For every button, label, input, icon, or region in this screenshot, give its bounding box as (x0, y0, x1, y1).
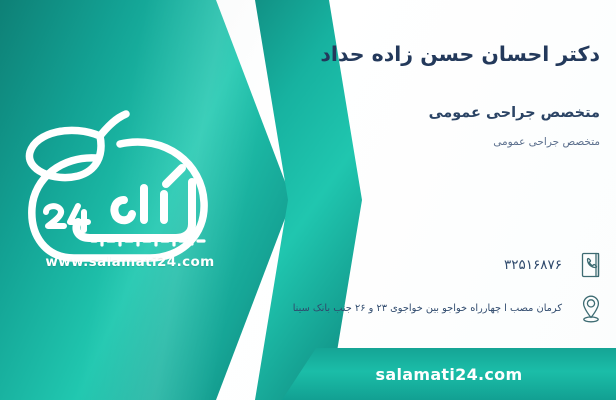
business-card: www.salamati24.com دکتر احسان حسن زاده ح… (0, 0, 616, 400)
logo-website: www.salamati24.com (16, 254, 244, 270)
clinic-address: کرمان مصب ا چهارراه خواجو بین خواجوی ۲۳ … (293, 302, 566, 315)
doctor-name: دکتر احسان حسن زاده حداد (310, 42, 600, 68)
footer-website: salamati24.com (376, 365, 523, 384)
doctor-specialty: متخصص جراحی عمومی (310, 104, 600, 123)
phone-number: ۳۲۵۱۶۸۷۶ (306, 256, 566, 274)
phone-book-icon (576, 248, 606, 282)
doctor-specialty-sub: متخصص جراحی عمومی (310, 136, 600, 150)
map-pin-icon (576, 292, 606, 326)
apple-logo-mark (16, 108, 244, 276)
card-content: دکتر احسان حسن زاده حداد متخصص جراحی عمو… (296, 0, 616, 400)
logo-wordmark-fa (77, 168, 193, 238)
phone-row[interactable]: ۳۲۵۱۶۸۷۶ (306, 248, 606, 282)
salamati24-logo[interactable]: www.salamati24.com (16, 108, 244, 276)
footer-bar[interactable]: salamati24.com (282, 348, 616, 400)
logo-24-badge (46, 206, 88, 230)
address-row[interactable]: کرمان مصب ا چهارراه خواجو بین خواجوی ۲۳ … (300, 292, 606, 326)
